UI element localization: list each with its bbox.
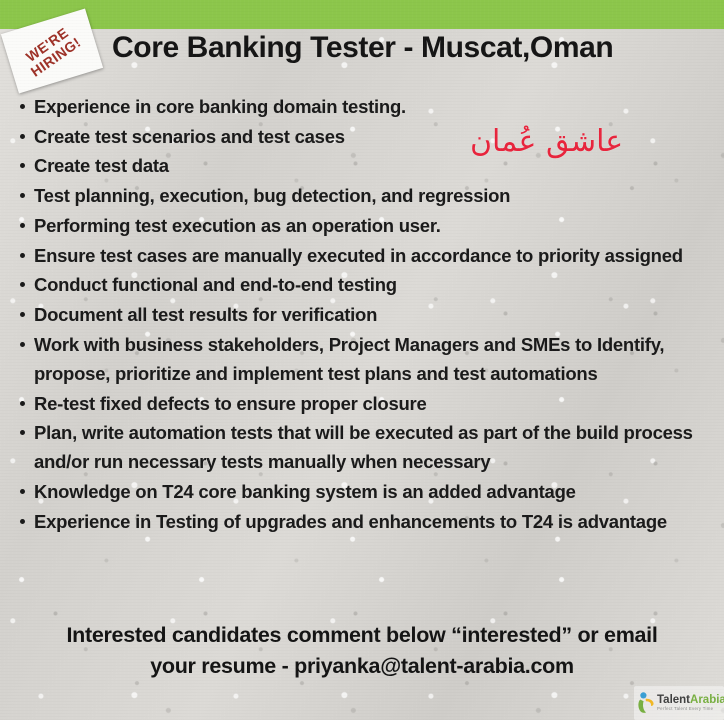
list-item: Ensure test cases are manually executed …	[17, 241, 717, 270]
list-item: Create test scenarios and test cases	[17, 122, 717, 151]
cta-line-2: your resume - priyanka@talent-arabia.com	[0, 651, 724, 682]
list-item: Conduct functional and end-to-end testin…	[17, 270, 717, 299]
were-hiring-sticker-text: WE'RE HIRING!	[20, 23, 84, 80]
list-item: Experience in Testing of upgrades and en…	[17, 507, 717, 536]
talent-arabia-logo: TalentArabia Perfect Talent Every Time	[634, 686, 724, 720]
list-item: Performing test execution as an operatio…	[17, 211, 717, 240]
list-item: Plan, write automation tests that will b…	[17, 418, 717, 476]
talent-arabia-mark-icon	[637, 692, 654, 714]
green-header-bar	[0, 0, 724, 29]
page-title: Core Banking Tester - Muscat,Oman	[112, 31, 724, 65]
list-item: Document all test results for verificati…	[17, 300, 717, 329]
list-item: Re-test fixed defects to ensure proper c…	[17, 389, 717, 418]
list-item: Work with business stakeholders, Project…	[17, 330, 717, 388]
list-item: Knowledge on T24 core banking system is …	[17, 477, 717, 506]
call-to-action: Interested candidates comment below “int…	[0, 620, 724, 682]
logo-name-talent: Talent	[657, 694, 690, 706]
job-poster: WE'RE HIRING! Core Banking Tester - Musc…	[0, 0, 724, 720]
logo-name: TalentArabia	[657, 695, 724, 707]
talent-arabia-wordmark: TalentArabia Perfect Talent Every Time	[657, 695, 724, 712]
list-item: Experience in core banking domain testin…	[17, 92, 717, 121]
logo-tagline: Perfect Talent Every Time	[657, 707, 724, 711]
logo-name-arabia: Arabia	[690, 694, 724, 706]
list-item: Create test data	[17, 151, 717, 180]
requirements-list: Experience in core banking domain testin…	[17, 92, 717, 537]
cta-line-1: Interested candidates comment below “int…	[66, 623, 657, 647]
list-item: Test planning, execution, bug detection,…	[17, 181, 717, 210]
